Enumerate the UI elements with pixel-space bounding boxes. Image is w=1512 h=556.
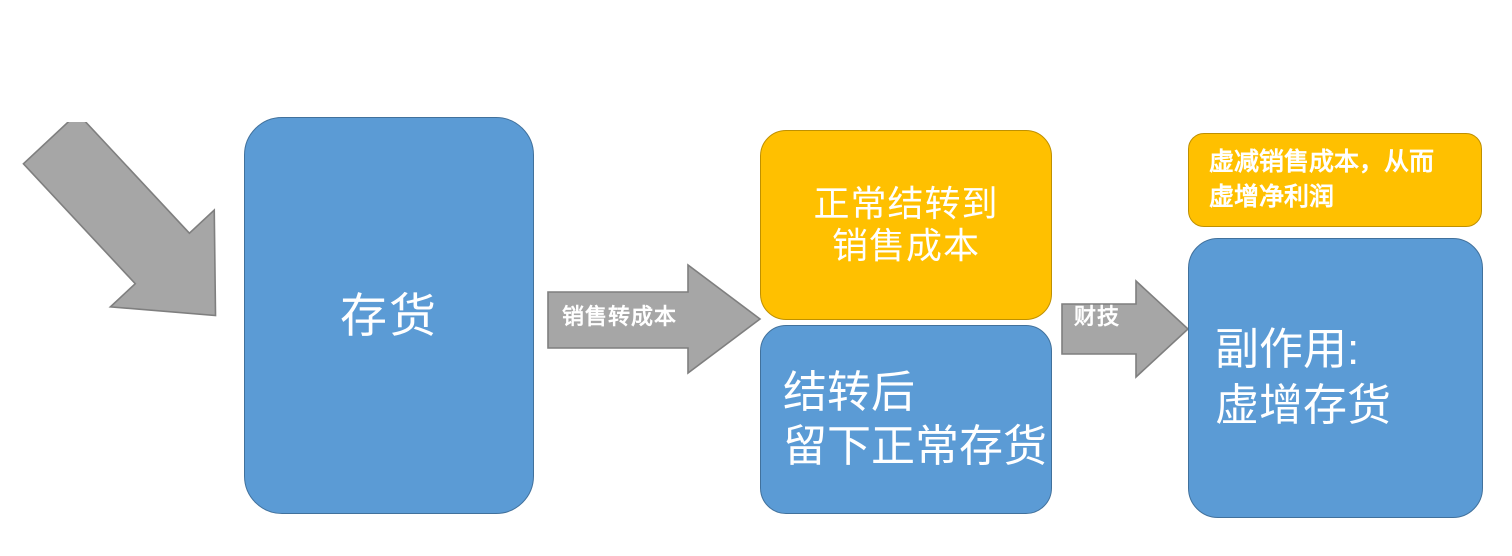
node-side-effect[interactable]: 副作用: 虚增存货 (1188, 238, 1483, 518)
diagram-canvas: 采购 销售转成本 财技 存货 正常结转到 销售成本 结转后 留下正常存货 虚减销… (0, 0, 1512, 556)
arrow-sales-to-cost-label: 销售转成本 (562, 299, 677, 331)
node-inventory[interactable]: 存货 (244, 117, 534, 514)
arrow-financial-technique-label: 财技 (1074, 299, 1120, 331)
node-callout-inflated-profit[interactable]: 虚减销售成本，从而 虚增净利润 (1188, 133, 1482, 227)
node-normal-transfer[interactable]: 正常结转到 销售成本 (760, 130, 1052, 320)
node-remaining-inventory[interactable]: 结转后 留下正常存货 (760, 325, 1052, 514)
